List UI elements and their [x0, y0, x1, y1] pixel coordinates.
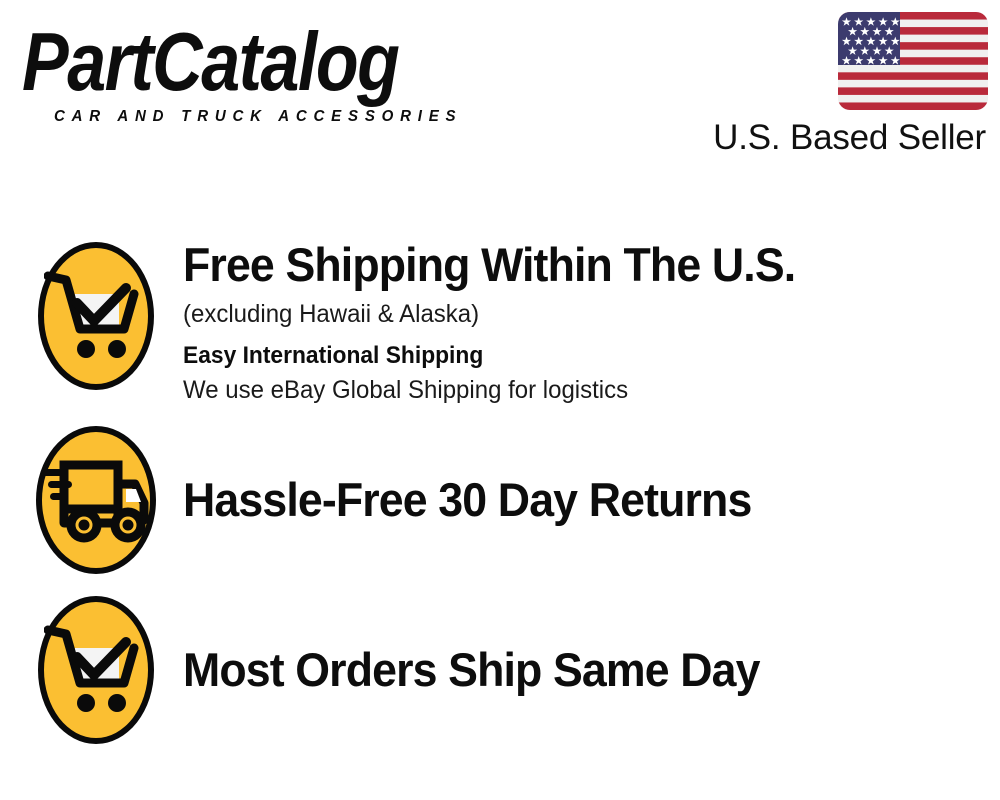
partcatalog-logo[interactable]: PartCatalog CAR AND TRUCK ACCESSORIES — [22, 18, 492, 118]
shopping-cart-check-icon — [38, 242, 154, 390]
feature-icon-wrap — [0, 232, 152, 390]
page-header: PartCatalog CAR AND TRUCK ACCESSORIES — [0, 0, 1000, 175]
us-based-seller-label: U.S. Based Seller — [713, 118, 986, 158]
feature-secondary-title: Easy International Shipping — [183, 340, 795, 372]
feature-text: Most Orders Ship Same Day — [152, 587, 790, 698]
feature-row: Hassle-Free 30 Day Returns — [0, 417, 1000, 587]
feature-subtitle: (excluding Hawaii & Alaska) — [183, 297, 802, 331]
delivery-truck-icon — [36, 426, 156, 574]
feature-row: Most Orders Ship Same Day — [0, 587, 1000, 757]
brand-tagline: CAR AND TRUCK ACCESSORIES — [54, 108, 462, 126]
feature-row: Free Shipping Within The U.S. (excluding… — [0, 232, 1000, 417]
feature-text: Free Shipping Within The U.S. (excluding… — [152, 232, 828, 407]
feature-icon-wrap — [0, 587, 152, 744]
feature-icon-wrap — [0, 417, 152, 574]
shopping-cart-check-icon — [38, 596, 154, 744]
feature-title: Most Orders Ship Same Day — [183, 642, 760, 698]
feature-text: Hassle-Free 30 Day Returns — [152, 417, 781, 528]
us-flag-icon — [838, 12, 988, 110]
brand-wordmark: PartCatalog — [22, 18, 492, 105]
feature-title: Free Shipping Within The U.S. — [183, 237, 795, 293]
feature-secondary-subtitle: We use eBay Global Shipping for logistic… — [183, 374, 802, 407]
feature-title: Hassle-Free 30 Day Returns — [183, 472, 751, 528]
